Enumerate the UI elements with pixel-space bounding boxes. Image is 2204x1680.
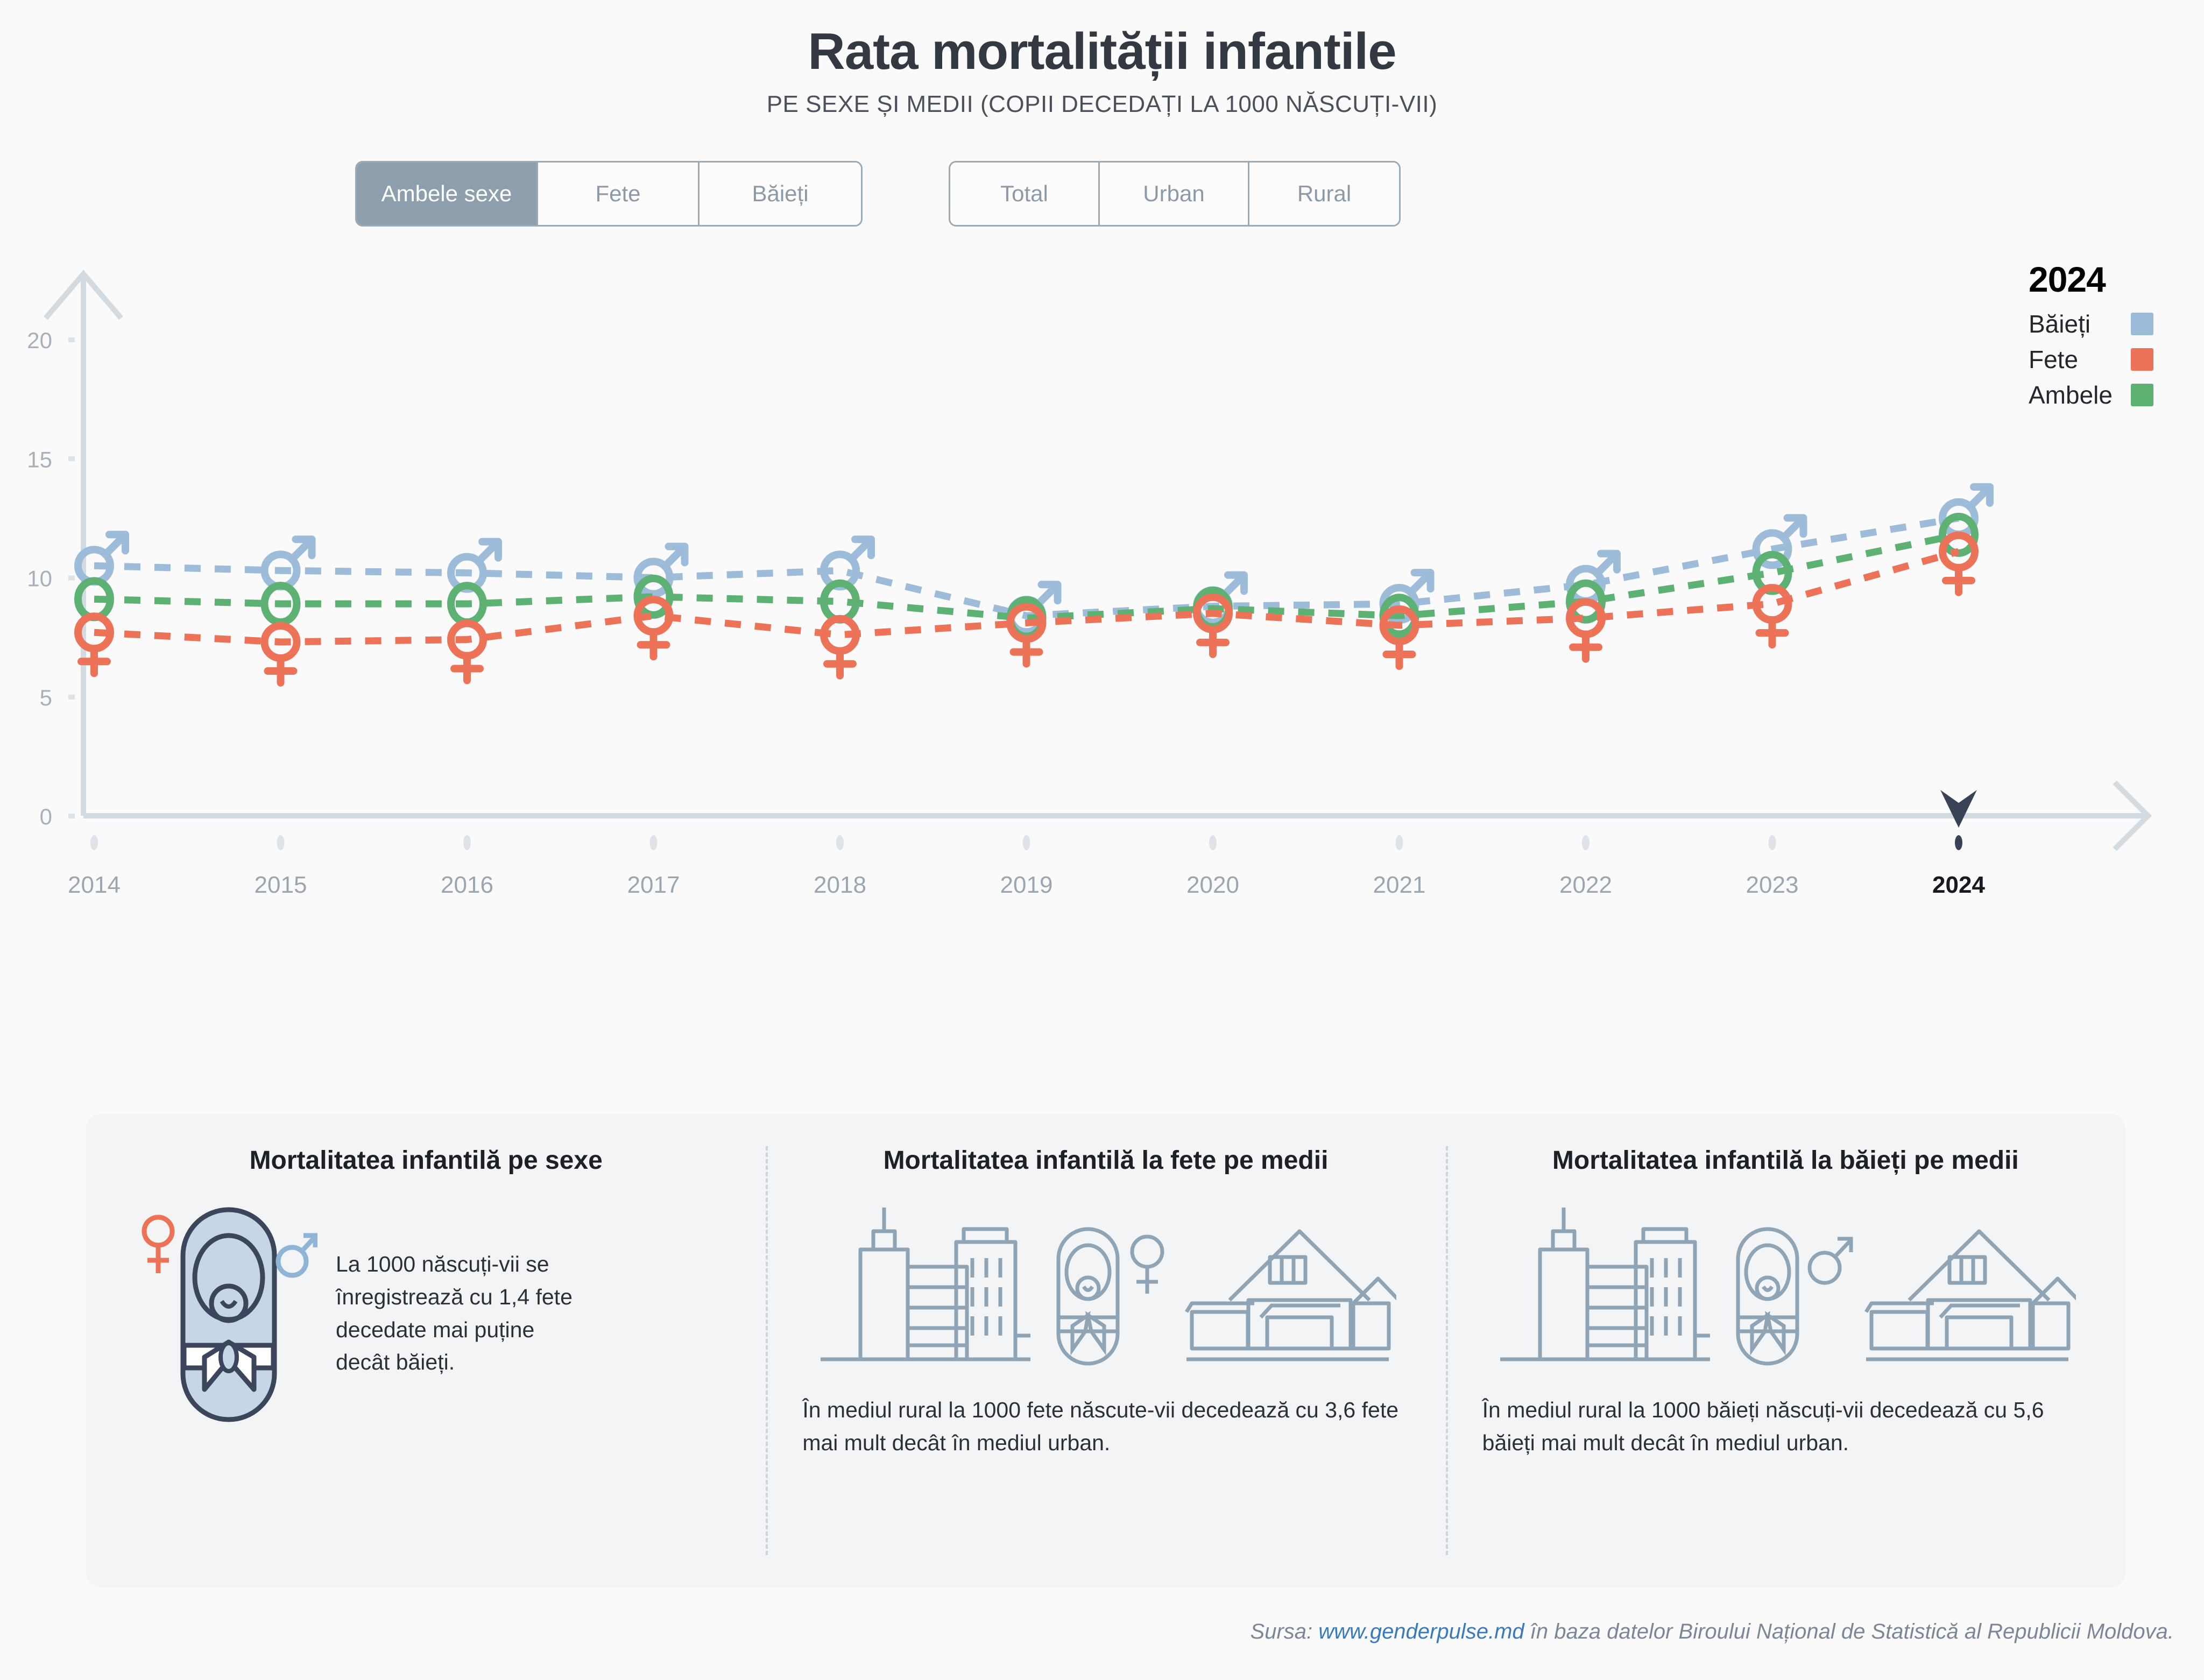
x-tick-label: 2018: [814, 872, 866, 898]
data-point-Fete: [451, 623, 483, 680]
x-tick-label: 2020: [1186, 872, 1239, 898]
data-point-Fete: [78, 616, 110, 673]
tab-ambele-sexe[interactable]: Ambele sexe: [357, 163, 538, 225]
source-footer: Sursa: www.genderpulse.md în baza datelo…: [0, 1620, 2204, 1644]
filter-toolbar: Ambele sexe Fete Băieți Total Urban Rura…: [0, 161, 2204, 227]
data-point-Fete: [265, 626, 297, 683]
legend-swatch-ambele: [2131, 384, 2153, 406]
card-title-fete: Mortalitatea infantilă la fete pe medii: [787, 1145, 1424, 1176]
y-tick-label: 20: [27, 328, 52, 353]
legend-swatch-fete: [2131, 348, 2153, 371]
data-point-Băieți: [1570, 554, 1617, 601]
sex-filter-group: Ambele sexe Fete Băieți: [355, 161, 863, 227]
y-tick-label: 10: [27, 566, 52, 591]
source-prefix: Sursa:: [1251, 1620, 1319, 1643]
rural-houses-icon: [1866, 1231, 2076, 1359]
insight-card-sexe: Mortalitatea infantilă pe sexe: [86, 1114, 766, 1587]
source-link[interactable]: www.genderpulse.md: [1318, 1620, 1524, 1643]
baby-gender-icon: [140, 1198, 317, 1429]
card-text-sexe: La 1000 născuți-vii se înregistrează cu …: [336, 1248, 589, 1379]
legend-label-baieti: Băieți: [2029, 309, 2090, 338]
chart-area: 0510152020142015201620172018201920202021…: [0, 253, 2204, 888]
urban-baby-rural-icon: [815, 1198, 1396, 1375]
tab-rural[interactable]: Rural: [1249, 163, 1399, 225]
card-title-sexe: Mortalitatea infantilă pe sexe: [108, 1145, 744, 1176]
insight-panel: Mortalitatea infantilă pe sexe: [86, 1114, 2125, 1587]
data-point-Fete: [1570, 602, 1602, 659]
tab-baieti[interactable]: Băieți: [700, 163, 861, 225]
rural-houses-icon: [1186, 1231, 1396, 1359]
y-tick-label: 0: [40, 804, 52, 829]
page-header: Rata mortalității infantile PE SEXE ȘI M…: [0, 0, 2204, 118]
data-point-Fete: [1756, 588, 1789, 645]
page-title: Rata mortalității infantile: [0, 25, 2204, 79]
legend-item-ambele[interactable]: Ambele: [2029, 380, 2153, 410]
data-point-Fete: [1942, 535, 1975, 592]
tab-total[interactable]: Total: [950, 163, 1100, 225]
legend-item-baieti[interactable]: Băieți: [2029, 309, 2153, 338]
tab-urban[interactable]: Urban: [1100, 163, 1249, 225]
data-point-Băieți: [265, 539, 312, 587]
female-symbol-icon: [144, 1217, 172, 1273]
source-suffix: în baza datelor Biroului Național de Sta…: [1524, 1620, 2174, 1643]
x-tick-label: 2021: [1373, 872, 1426, 898]
x-tick-label: 2016: [441, 872, 493, 898]
tab-fete[interactable]: Fete: [538, 163, 700, 225]
x-tick-label: 2014: [68, 872, 121, 898]
legend-item-fete[interactable]: Fete: [2029, 345, 2153, 374]
city-buildings-icon: [1500, 1208, 1710, 1359]
data-point-Fete: [824, 618, 856, 675]
data-point-Băieți: [1942, 487, 1990, 534]
legend-label-fete: Fete: [2029, 345, 2078, 374]
swaddled-baby-icon: [183, 1210, 274, 1420]
legend-swatch-baieti: [2131, 313, 2153, 335]
card-title-baieti: Mortalitatea infantilă la băieți pe medi…: [1467, 1145, 2104, 1176]
card-text-fete: În mediul rural la 1000 fete născute-vii…: [787, 1394, 1424, 1460]
data-point-Băieți: [824, 539, 871, 587]
page-subtitle: PE SEXE ȘI MEDII (COPII DECEDAȚI LA 1000…: [0, 91, 2204, 118]
card-text-baieti: În mediul rural la 1000 băieți născuți-v…: [1467, 1394, 2104, 1460]
x-tick-label: 2017: [627, 872, 680, 898]
x-tick-label: 2023: [1746, 872, 1799, 898]
insight-card-baieti: Mortalitatea infantilă la băieți pe medi…: [1446, 1114, 2125, 1587]
y-tick-label: 5: [40, 685, 52, 710]
y-tick-label: 15: [27, 447, 52, 472]
data-point-Băieți: [451, 541, 498, 589]
swaddled-baby-male-icon: [1738, 1229, 1851, 1364]
x-tick-label: 2022: [1559, 872, 1612, 898]
insight-card-fete: Mortalitatea infantilă la fete pe medii: [766, 1114, 1445, 1587]
x-tick-label: 2019: [1000, 872, 1053, 898]
chart-legend: 2024 Băieți Fete Ambele: [2029, 259, 2190, 416]
line-chart: 0510152020142015201620172018201920202021…: [0, 253, 2204, 899]
male-symbol-icon: [278, 1236, 315, 1275]
legend-year: 2024: [2029, 259, 2190, 300]
legend-label-ambele: Ambele: [2029, 380, 2113, 410]
city-buildings-icon: [821, 1208, 1030, 1359]
urban-baby-rural-icon-2: [1495, 1198, 2076, 1375]
data-point-Fete: [638, 599, 670, 657]
x-tick-label: 2015: [255, 872, 307, 898]
area-filter-group: Total Urban Rural: [949, 161, 1401, 227]
swaddled-baby-female-icon: [1058, 1229, 1162, 1364]
x-tick-label: 2024: [1932, 872, 1985, 898]
